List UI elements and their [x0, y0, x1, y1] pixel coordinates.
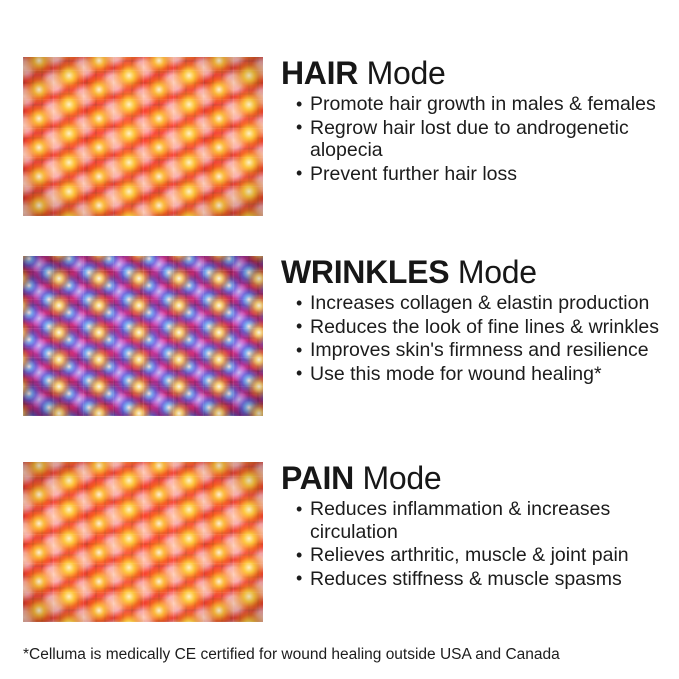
mode-title-word-wrinkles: WRINKLES	[281, 254, 449, 290]
list-item: Relieves arthritic, muscle & joint pain	[296, 544, 679, 567]
footnote-text: *Celluma is medically CE certified for w…	[23, 645, 560, 665]
mode-text-wrinkles: WRINKLES Mode Increases collagen & elast…	[263, 256, 679, 386]
mode-title-suffix-hair: Mode	[358, 55, 445, 91]
led-panel-pain-image	[23, 462, 263, 622]
mode-title-suffix-wrinkles: Mode	[449, 254, 536, 290]
panel-vignette	[23, 256, 263, 416]
mode-title-word-hair: HAIR	[281, 55, 358, 91]
list-item: Regrow hair lost due to androgenetic alo…	[296, 117, 679, 162]
panel-vignette	[23, 462, 263, 622]
mode-section-wrinkles: WRINKLES Mode Increases collagen & elast…	[0, 256, 679, 416]
mode-section-pain: PAIN Mode Reduces inflammation & increas…	[0, 462, 679, 622]
list-item: Reduces stiffness & muscle spasms	[296, 568, 679, 591]
mode-title-hair: HAIR Mode	[281, 57, 679, 89]
mode-title-pain: PAIN Mode	[281, 462, 679, 494]
mode-text-hair: HAIR Mode Promote hair growth in males &…	[263, 57, 679, 186]
mode-title-word-pain: PAIN	[281, 460, 354, 496]
led-panel-hair-image	[23, 57, 263, 216]
list-item: Prevent further hair loss	[296, 163, 679, 186]
mode-title-wrinkles: WRINKLES Mode	[281, 256, 679, 288]
mode-text-pain: PAIN Mode Reduces inflammation & increas…	[263, 462, 679, 591]
list-item: Increases collagen & elastin production	[296, 292, 679, 315]
list-item: Promote hair growth in males & females	[296, 93, 679, 116]
mode-title-suffix-pain: Mode	[354, 460, 441, 496]
list-item: Reduces inflammation & increases circula…	[296, 498, 679, 543]
led-panel-wrinkles-image	[23, 256, 263, 416]
mode-bullets-wrinkles: Increases collagen & elastin production …	[281, 292, 679, 385]
mode-bullets-hair: Promote hair growth in males & females R…	[281, 93, 679, 185]
mode-bullets-pain: Reduces inflammation & increases circula…	[281, 498, 679, 590]
list-item: Reduces the look of fine lines & wrinkle…	[296, 316, 679, 339]
list-item: Improves skin's firmness and resilience	[296, 339, 679, 362]
panel-vignette	[23, 57, 263, 216]
list-item: Use this mode for wound healing*	[296, 363, 679, 386]
mode-section-hair: HAIR Mode Promote hair growth in males &…	[0, 57, 679, 216]
infographic-sheet: HAIR Mode Promote hair growth in males &…	[0, 0, 679, 679]
